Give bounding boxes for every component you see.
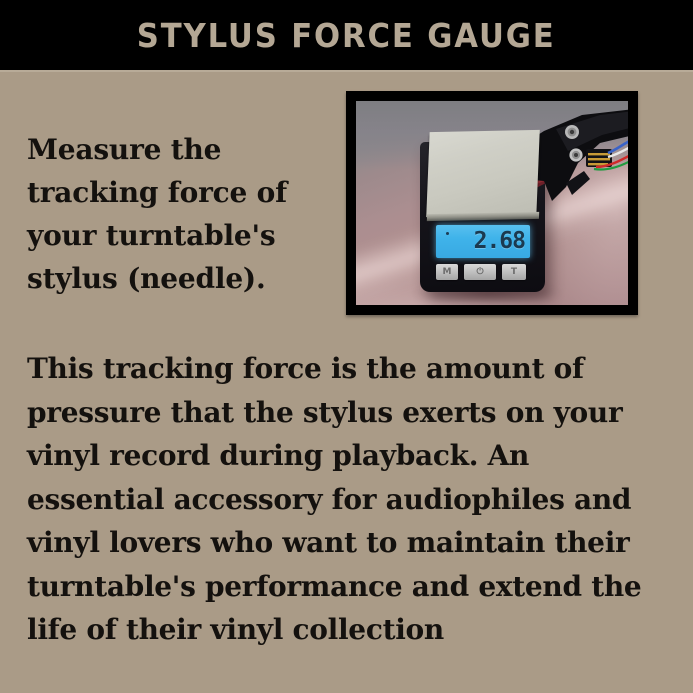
pin-1 xyxy=(588,153,610,155)
scale-power-button[interactable]: ⏻ xyxy=(464,264,496,280)
scale-mode-button[interactable]: M xyxy=(436,264,458,280)
poster-root: STYLUS FORCE GAUGE Measure the tracking … xyxy=(0,0,693,693)
headshell-screw-top xyxy=(565,125,579,139)
product-photo: 2.68 M ⏻ T xyxy=(356,101,628,305)
page-title: STYLUS FORCE GAUGE xyxy=(137,16,556,55)
pin-2 xyxy=(588,158,610,160)
product-photo-frame: 2.68 M ⏻ T xyxy=(346,91,638,315)
lcd-indicator-dot xyxy=(446,232,449,235)
header-divider xyxy=(0,70,693,72)
scale-lcd-display: 2.68 xyxy=(436,225,530,258)
lcd-weight-value: 2.68 xyxy=(474,227,525,255)
scale-tare-button[interactable]: T xyxy=(502,264,526,280)
description-paragraph: This tracking force is the amount of pre… xyxy=(27,347,672,652)
headshell-screw-bottom xyxy=(569,148,582,161)
intro-paragraph: Measure the tracking force of your turnt… xyxy=(27,128,327,300)
header-bar: STYLUS FORCE GAUGE xyxy=(0,0,693,70)
scale-weighing-platform xyxy=(426,130,540,217)
